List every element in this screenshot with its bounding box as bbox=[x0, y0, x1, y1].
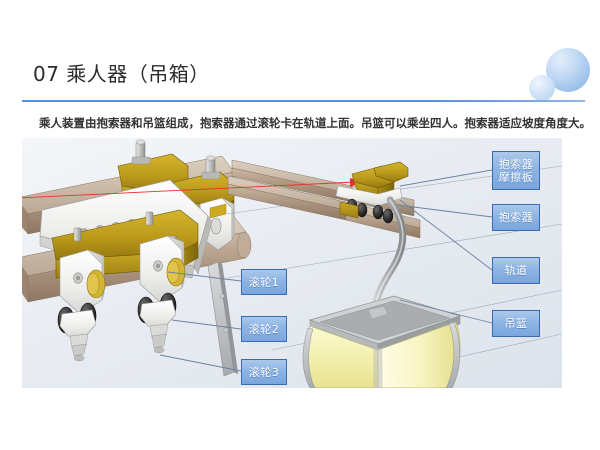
callout-roller-3-label: 滚轮3 bbox=[249, 366, 280, 379]
callout-gripper-label: 抱索器 bbox=[499, 211, 534, 224]
callout-roller-2-label: 滚轮2 bbox=[249, 323, 280, 336]
callout-cabin-label: 吊篮 bbox=[505, 317, 528, 330]
callout-roller-3[interactable]: 滚轮3 bbox=[241, 359, 287, 385]
callout-roller-1[interactable]: 滚轮1 bbox=[241, 269, 287, 295]
decorative-circle-large bbox=[546, 48, 590, 92]
callout-friction-plate-line1: 抱索器 bbox=[499, 158, 534, 171]
callout-roller-1-label: 滚轮1 bbox=[249, 276, 280, 289]
page-title: 07 乘人器（吊箱） bbox=[33, 58, 210, 87]
technical-illustration bbox=[22, 138, 562, 388]
title-divider bbox=[22, 100, 585, 102]
callout-cabin[interactable]: 吊篮 bbox=[492, 310, 540, 337]
slide-subtitle: 乘人装置由抱索器和吊篮组成，抱索器通过滚轮卡在轨道上面。吊篮可以乘坐四人。抱索器… bbox=[39, 115, 569, 131]
callout-rail-label: 轨道 bbox=[505, 264, 528, 277]
decorative-circle-small bbox=[529, 75, 555, 101]
callout-rail[interactable]: 轨道 bbox=[492, 257, 540, 284]
slide-canvas: 07 乘人器（吊箱） 乘人装置由抱索器和吊篮组成，抱索器通过滚轮卡在轨道上面。吊… bbox=[0, 0, 600, 450]
callout-roller-2[interactable]: 滚轮2 bbox=[241, 316, 287, 342]
callout-friction-plate[interactable]: 抱索器 摩擦板 bbox=[492, 151, 540, 190]
callout-friction-plate-line2: 摩擦板 bbox=[499, 171, 534, 184]
callout-gripper[interactable]: 抱索器 bbox=[492, 204, 540, 231]
